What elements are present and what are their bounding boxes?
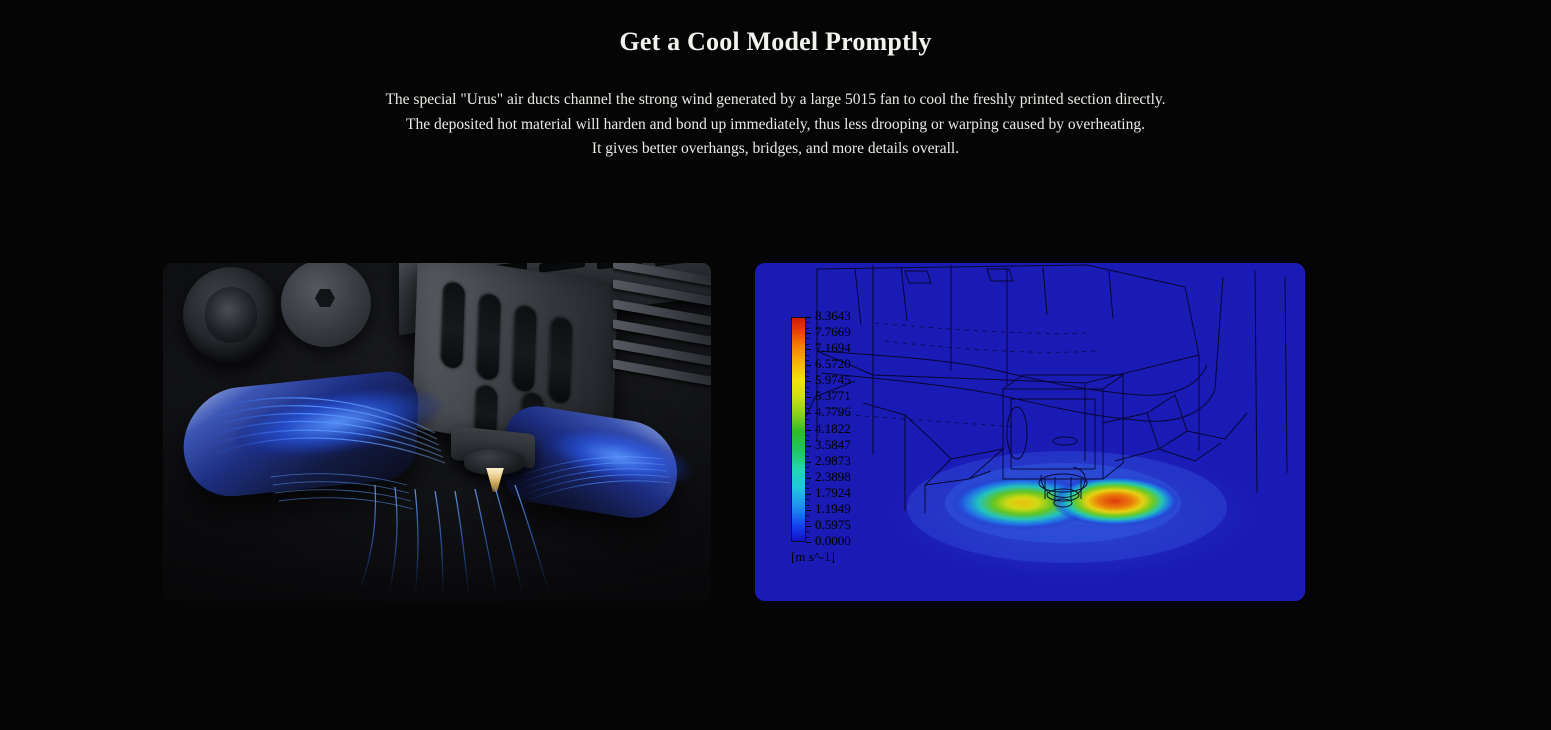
colorbar-tick-label: 7.7669 — [815, 324, 851, 340]
colorbar-minor-tick — [806, 451, 809, 452]
colorbar-minor-tick — [806, 371, 809, 372]
colorbar-minor-tick — [806, 494, 809, 495]
extruder-motor — [183, 267, 279, 363]
cfd-plot-image: 8.36437.76697.16946.57205.97455.37714.77… — [755, 263, 1305, 601]
colorbar-minor-tick — [806, 387, 809, 388]
colorbar-minor-tick — [806, 537, 809, 538]
colorbar-minor-tick — [806, 397, 809, 398]
colorbar-minor-tick — [806, 317, 809, 318]
page-root: Get a Cool Model Promptly The special "U… — [0, 0, 1551, 730]
colorbar-minor-tick — [806, 328, 809, 329]
colorbar-minor-tick — [806, 430, 809, 431]
colorbar-unit-label: [m s^-1] — [791, 549, 835, 565]
colorbar-minor-tick — [806, 338, 809, 339]
colorbar-tick-label: 7.1694 — [815, 340, 851, 356]
colorbar-tick-label: 4.1822 — [815, 421, 851, 437]
hotend-render-image — [163, 263, 711, 601]
colorbar-tick-label: 5.9745 — [815, 372, 851, 388]
colorbar-minor-tick — [806, 515, 809, 516]
colorbar-tick-label: 1.7924 — [815, 485, 851, 501]
colorbar-minor-tick — [806, 456, 809, 457]
colorbar-minor-tick — [806, 376, 809, 377]
colorbar-minor-tick — [806, 333, 809, 334]
colorbar-minor-tick — [806, 446, 809, 447]
description-line-1: The special "Urus" air ducts channel the… — [0, 88, 1551, 113]
media-row: 8.36437.76697.16946.57205.97455.37714.77… — [0, 263, 1551, 603]
colorbar-minor-tick — [806, 424, 809, 425]
colorbar-tick-label: 1.1949 — [815, 501, 851, 517]
colorbar-minor-tick — [806, 435, 809, 436]
colorbar-minor-tick — [806, 488, 809, 489]
colorbar-tick-label: 2.9873 — [815, 453, 851, 469]
colorbar-minor-tick — [806, 344, 809, 345]
colorbar-tick-label: 6.5720 — [815, 356, 851, 372]
colorbar-tick-label: 2.3898 — [815, 469, 851, 485]
colorbar-minor-tick — [806, 355, 809, 356]
colorbar-minor-tick — [806, 365, 809, 366]
description-line-2: The deposited hot material will harden a… — [0, 113, 1551, 138]
colorbar-tick-label: 8.3643 — [815, 308, 851, 324]
colorbar-minor-tick — [806, 472, 809, 473]
description-block: The special "Urus" air ducts channel the… — [0, 88, 1551, 162]
colorbar-gradient — [791, 317, 806, 542]
render-stage — [163, 263, 711, 601]
colorbar-minor-tick — [806, 381, 809, 382]
colorbar-tick-label: 0.0000 — [815, 533, 851, 549]
colorbar-minor-tick — [806, 505, 809, 506]
colorbar-minor-tick — [806, 531, 809, 532]
brass-nozzle — [485, 468, 505, 492]
colorbar-minor-tick — [806, 462, 809, 463]
colorbar-minor-tick — [806, 413, 809, 414]
colorbar-minor-tick — [806, 510, 809, 511]
colorbar-minor-tick — [806, 419, 809, 420]
colorbar-minor-tick — [806, 478, 809, 479]
colorbar-minor-tick — [806, 360, 809, 361]
colorbar-minor-tick — [806, 526, 809, 527]
colorbar-minor-tick — [806, 467, 809, 468]
colorbar-minor-tick — [806, 403, 809, 404]
description-line-3: It gives better overhangs, bridges, and … — [0, 137, 1551, 162]
colorbar-minor-tick — [806, 440, 809, 441]
colorbar-minor-tick — [806, 521, 809, 522]
colorbar-minor-tick — [806, 483, 809, 484]
hex-screw-plate — [281, 263, 371, 347]
colorbar-minor-tick — [806, 499, 809, 500]
colorbar-minor-tick — [806, 349, 809, 350]
colorbar-tick-label: 5.3771 — [815, 388, 851, 404]
colorbar-tick-label: 3.5847 — [815, 437, 851, 453]
colorbar-tick-label: 4.7796 — [815, 404, 851, 420]
colorbar-tick — [806, 542, 811, 543]
colorbar-minor-tick — [806, 408, 809, 409]
cooling-fin-stack — [613, 263, 711, 423]
colorbar-ticks — [806, 317, 812, 542]
colorbar-minor-tick — [806, 392, 809, 393]
colorbar-tick-label: 0.5975 — [815, 517, 851, 533]
page-title: Get a Cool Model Promptly — [0, 27, 1551, 57]
colorbar-minor-tick — [806, 322, 809, 323]
